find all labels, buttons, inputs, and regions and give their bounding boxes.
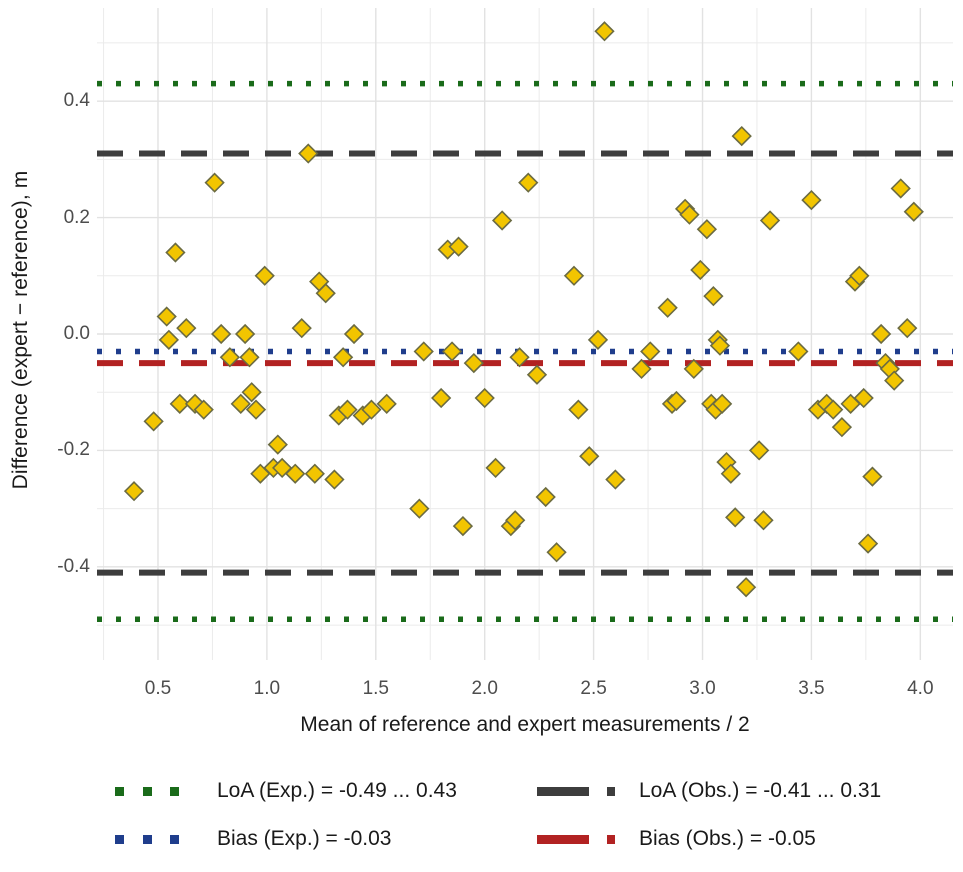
data-point	[698, 220, 716, 238]
data-point	[733, 127, 751, 145]
data-point	[737, 578, 755, 596]
data-point	[325, 471, 343, 489]
data-point	[859, 535, 877, 553]
plot-panel	[97, 8, 953, 660]
x-tick-label: 1.5	[363, 678, 389, 700]
y-tick-label: -0.2	[34, 439, 90, 461]
data-point	[606, 471, 624, 489]
data-point	[158, 308, 176, 326]
y-tick-label: 0.4	[34, 90, 90, 112]
data-point	[761, 211, 779, 229]
legend-dash-icon	[607, 787, 615, 796]
legend-dot-icon	[170, 835, 179, 844]
data-point	[659, 299, 677, 317]
data-point	[345, 325, 363, 343]
legend-label-bias-exp: Bias (Exp.) = -0.03	[217, 827, 392, 851]
data-point	[206, 174, 224, 192]
data-point	[548, 543, 566, 561]
y-tick-label: 0.2	[34, 207, 90, 229]
legend-dot-icon	[170, 787, 179, 796]
x-axis-tick-labels: 0.51.01.52.02.53.03.54.0	[0, 678, 963, 704]
data-point	[641, 342, 659, 360]
data-point	[454, 517, 472, 535]
legend-dash-icon	[607, 835, 615, 844]
legend-key-bias-exp	[115, 825, 207, 853]
chart-legend: LoA (Exp.) = -0.49 ... 0.43LoA (Obs.) = …	[97, 770, 953, 862]
x-tick-label: 0.5	[145, 678, 171, 700]
data-point	[410, 500, 428, 518]
legend-key-bias-obs	[537, 825, 629, 853]
data-point	[833, 418, 851, 436]
legend-item-bias-obs[interactable]: Bias (Obs.) = -0.05	[537, 818, 816, 860]
x-tick-label: 3.5	[798, 678, 824, 700]
x-tick-label: 2.5	[580, 678, 606, 700]
data-points	[125, 22, 923, 596]
data-point	[493, 211, 511, 229]
legend-key-loa-exp	[115, 777, 207, 805]
data-point	[892, 179, 910, 197]
data-point	[487, 459, 505, 477]
reference-lines	[97, 84, 953, 620]
x-axis-title: Mean of reference and expert measurement…	[97, 713, 953, 737]
data-point	[569, 401, 587, 419]
data-point	[565, 267, 583, 285]
x-tick-label: 3.0	[689, 678, 715, 700]
data-point	[212, 325, 230, 343]
legend-item-bias-exp[interactable]: Bias (Exp.) = -0.03	[115, 818, 392, 860]
legend-dot-icon	[143, 835, 152, 844]
x-tick-label: 4.0	[907, 678, 933, 700]
bland-altman-figure: Difference (expert − reference), m 0.40.…	[0, 0, 963, 872]
data-point	[750, 441, 768, 459]
data-point	[519, 174, 537, 192]
legend-label-bias-obs: Bias (Obs.) = -0.05	[639, 827, 816, 851]
legend-item-loa-obs[interactable]: LoA (Obs.) = -0.41 ... 0.31	[537, 770, 881, 812]
data-point	[789, 342, 807, 360]
data-point	[872, 325, 890, 343]
legend-item-loa-exp[interactable]: LoA (Exp.) = -0.49 ... 0.43	[115, 770, 457, 812]
data-point	[443, 342, 461, 360]
legend-dash-icon	[537, 787, 589, 796]
data-point	[465, 354, 483, 372]
plot-area-svg	[97, 8, 953, 660]
data-point	[704, 287, 722, 305]
x-tick-label: 1.0	[254, 678, 280, 700]
y-tick-label: -0.4	[34, 556, 90, 578]
legend-dot-icon	[143, 787, 152, 796]
x-tick-label: 2.0	[471, 678, 497, 700]
legend-key-loa-obs	[537, 777, 629, 805]
data-point	[145, 412, 163, 430]
legend-dash-icon	[537, 835, 589, 844]
data-point	[125, 482, 143, 500]
y-tick-label: 0.0	[34, 323, 90, 345]
legend-label-loa-obs: LoA (Obs.) = -0.41 ... 0.31	[639, 779, 881, 803]
data-point	[596, 22, 614, 40]
legend-dot-icon	[115, 835, 124, 844]
legend-dot-icon	[115, 787, 124, 796]
legend-label-loa-exp: LoA (Exp.) = -0.49 ... 0.43	[217, 779, 457, 803]
data-point	[726, 508, 744, 526]
data-point	[802, 191, 820, 209]
data-point	[256, 267, 274, 285]
y-axis-tick-labels: 0.40.20.0-0.2-0.4	[30, 0, 90, 660]
data-point	[236, 325, 254, 343]
data-point	[166, 244, 184, 262]
data-point	[528, 366, 546, 384]
